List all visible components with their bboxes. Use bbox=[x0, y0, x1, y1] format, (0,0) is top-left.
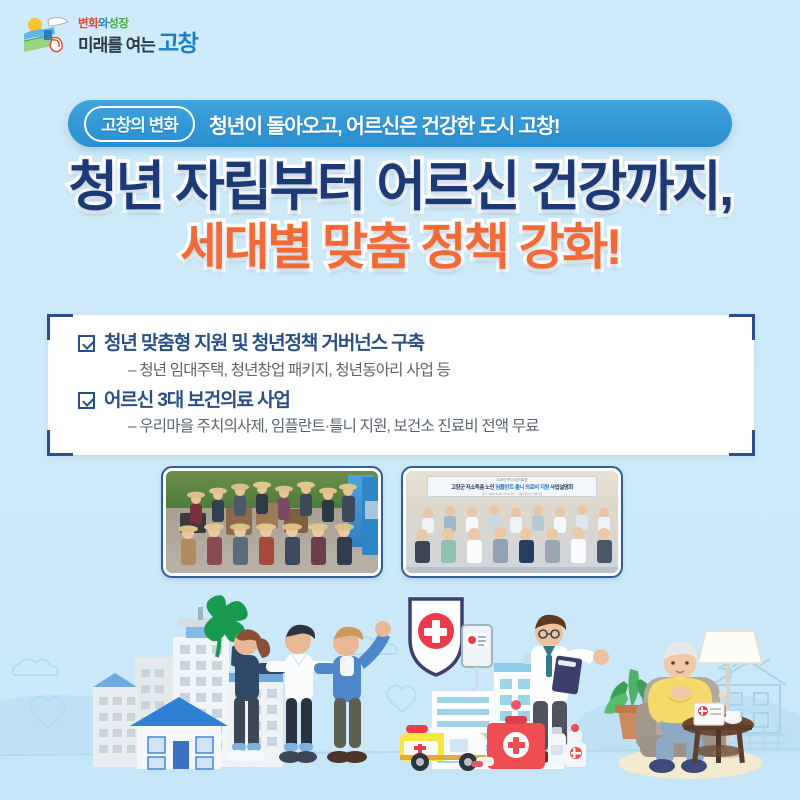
policy-list: 청년 맞춤형 지원 및 청년정책 거버넌스 구축 – 청년 임대주택, 청년창업… bbox=[78, 331, 734, 444]
banner-text: 청년이 돌아오고, 어르신은 건강한 도시 고창! bbox=[209, 109, 559, 139]
corner-bracket-top-left bbox=[47, 314, 73, 340]
gochang-logo[interactable]: 변화와성장 미래를 여는 고창 bbox=[22, 10, 212, 62]
list-item-head: 어르신 3대 보건의료 사업 bbox=[78, 388, 734, 414]
youth-program-group-photo bbox=[163, 468, 381, 576]
logo-name-main: 고창 bbox=[158, 32, 197, 55]
photo-right-people bbox=[406, 471, 621, 576]
illustration-svg bbox=[0, 585, 800, 800]
logo-name-prefix: 미래를 여는 bbox=[78, 37, 155, 54]
logo-tagline-part3: 성장 bbox=[108, 18, 128, 30]
bottom-illustration bbox=[0, 585, 800, 800]
logo-tagline: 변화와성장 bbox=[78, 19, 197, 31]
list-item: 어르신 3대 보건의료 사업 – 우리마을 주치의사제, 임플란트·틀니 지원,… bbox=[78, 388, 734, 439]
senior-healthcare-briefing-photo: 2025년 복지 공공의료형 고창군 저소득층 노인 임플란트·틀니 의료비 지… bbox=[403, 468, 621, 576]
list-item-head: 청년 맞춤형 지원 및 청년정책 거버넌스 구축 bbox=[78, 331, 734, 357]
subtitle-banner: 고창의 변화 청년이 돌아오고, 어르신은 건강한 도시 고창! bbox=[68, 100, 732, 147]
medical-shield-cross-icon bbox=[410, 599, 462, 675]
list-item-sub: – 청년 임대주택, 청년창업 패키지, 청년동아리 사업 등 bbox=[128, 361, 734, 382]
checkbox-checked-icon bbox=[78, 392, 95, 409]
page-title: 청년 자립부터 어르신 건강까지, 세대별 맞춤 정책 강화! bbox=[0, 160, 800, 273]
logo-name: 미래를 여는 고창 bbox=[78, 32, 197, 55]
list-item-sub: – 우리마을 주치의사제, 임플란트·틀니 지원, 보건소 진료비 전액 무료 bbox=[128, 417, 734, 438]
corner-bracket-bottom-left bbox=[47, 430, 73, 456]
checkbox-checked-icon bbox=[78, 335, 95, 352]
logo-tagline-part2: 와 bbox=[98, 18, 108, 30]
list-item-title: 어르신 3대 보건의료 사업 bbox=[104, 388, 290, 414]
photo-left-people bbox=[166, 471, 381, 576]
headline-line-1: 청년 자립부터 어르신 건강까지, bbox=[0, 160, 800, 216]
logo-tagline-part1: 변화 bbox=[78, 18, 98, 30]
list-item-title: 청년 맞춤형 지원 및 청년정책 거버넌스 구축 bbox=[104, 331, 424, 357]
list-item: 청년 맞춤형 지원 및 청년정책 거버넌스 구축 – 청년 임대주택, 청년창업… bbox=[78, 331, 734, 382]
infographic-page: 변화와성장 미래를 여는 고창 고창의 변화 청년이 돌아오고, 어르신은 건강… bbox=[0, 0, 800, 800]
banner-badge: 고창의 변화 bbox=[84, 106, 195, 142]
headline-line-2: 세대별 맞춤 정책 강화! bbox=[0, 222, 800, 274]
gochang-emblem-icon bbox=[22, 14, 72, 58]
policy-card: 청년 맞춤형 지원 및 청년정책 거버넌스 구축 – 청년 임대주택, 청년창업… bbox=[48, 315, 754, 455]
logo-text: 변화와성장 미래를 여는 고창 bbox=[78, 17, 197, 56]
young-people-cheering-icon bbox=[227, 621, 391, 763]
